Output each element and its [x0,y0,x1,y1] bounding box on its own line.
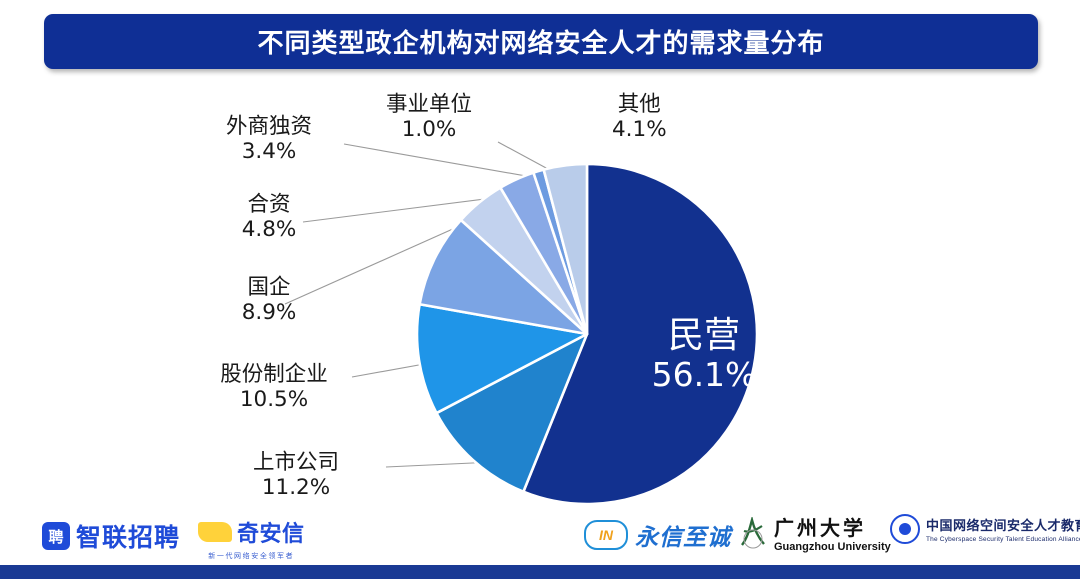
logo-alliance: 中国网络空间安全人才教育论坛 The Cyberspace Security T… [890,514,1080,544]
slice-label-minying-label: 民营 [614,314,794,356]
callout-qita-percent: 4.1% [612,117,667,142]
logo-guangzhou-university: 广州大学 Guangzhou University [738,512,891,553]
callout-waishang: 外商独资 3.4% [196,114,342,165]
alliance-wordmark-en: The Cyberspace Security Talent Education… [926,536,1080,543]
qianxin-wordmark: 奇安信 [237,516,305,548]
footer-logos: 聘 智联招聘 奇安信 新一代网络安全领军者 IN 永信至诚 广州 [0,506,1080,564]
gzu-wordmark-cn: 广州大学 [774,512,891,541]
alliance-texts: 中国网络空间安全人才教育论坛 The Cyberspace Security T… [926,515,1080,543]
callout-hezi: 合资 4.8% [196,192,342,243]
pie-chart-svg [0,72,1080,504]
callout-gufen-percent: 10.5% [186,387,362,412]
callout-qita: 其他 4.1% [612,92,667,143]
zhaopin-mark-icon: 聘 [42,522,70,550]
qianxin-tiger-icon [198,522,232,542]
yongxin-wordmark: 永信至诚 [635,518,731,552]
gzu-crest-icon [738,517,768,549]
footer-accent-bar [0,565,1080,579]
callout-guoqi: 国企 8.9% [196,275,342,326]
alliance-seal-inner [899,523,911,535]
callout-shiye-label: 事业单位 [386,92,472,117]
pie-chart: 其他 4.1% 事业单位 1.0% 外商独资 3.4% 合资 4.8% 国企 8… [0,72,1080,504]
callout-shiye-percent: 1.0% [386,117,472,142]
callout-shangshi: 上市公司 11.2% [208,450,384,501]
gzu-wordmark-en: Guangzhou University [774,541,891,553]
callout-hezi-percent: 4.8% [196,217,342,242]
slice-label-minying-percent: 56.1% [614,356,794,395]
callout-guoqi-label: 国企 [196,275,342,300]
qianxin-row: 奇安信 [198,516,305,548]
yongxin-in-icon: IN [584,520,628,550]
page-title: 不同类型政企机构对网络安全人才的需求量分布 [257,23,824,60]
callout-shiye: 事业单位 1.0% [386,92,472,143]
callout-hezi-label: 合资 [196,192,342,217]
callout-gufen-label: 股份制企业 [186,362,362,387]
qianxin-tagline: 新一代网络安全领军者 [208,551,294,561]
alliance-seal-icon [890,514,920,544]
callout-shangshi-label: 上市公司 [208,450,384,475]
callout-qita-label: 其他 [612,92,667,117]
logo-zhaopin: 聘 智联招聘 [42,518,180,554]
slide-canvas: 不同类型政企机构对网络安全人才的需求量分布 [0,0,1080,579]
callout-waishang-percent: 3.4% [196,139,342,164]
logo-yongxin: IN 永信至诚 [584,518,731,552]
gzu-texts: 广州大学 Guangzhou University [774,512,891,553]
slice-label-minying: 民营 56.1% [614,314,794,395]
alliance-wordmark-cn: 中国网络空间安全人才教育论坛 [926,515,1080,534]
callout-shangshi-percent: 11.2% [208,475,384,500]
title-banner: 不同类型政企机构对网络安全人才的需求量分布 [44,14,1038,69]
callout-waishang-label: 外商独资 [196,114,342,139]
callout-guoqi-percent: 8.9% [196,300,342,325]
callout-gufen: 股份制企业 10.5% [186,362,362,413]
zhaopin-wordmark: 智联招聘 [76,518,180,554]
logo-qianxin: 奇安信 新一代网络安全领军者 [198,516,305,561]
